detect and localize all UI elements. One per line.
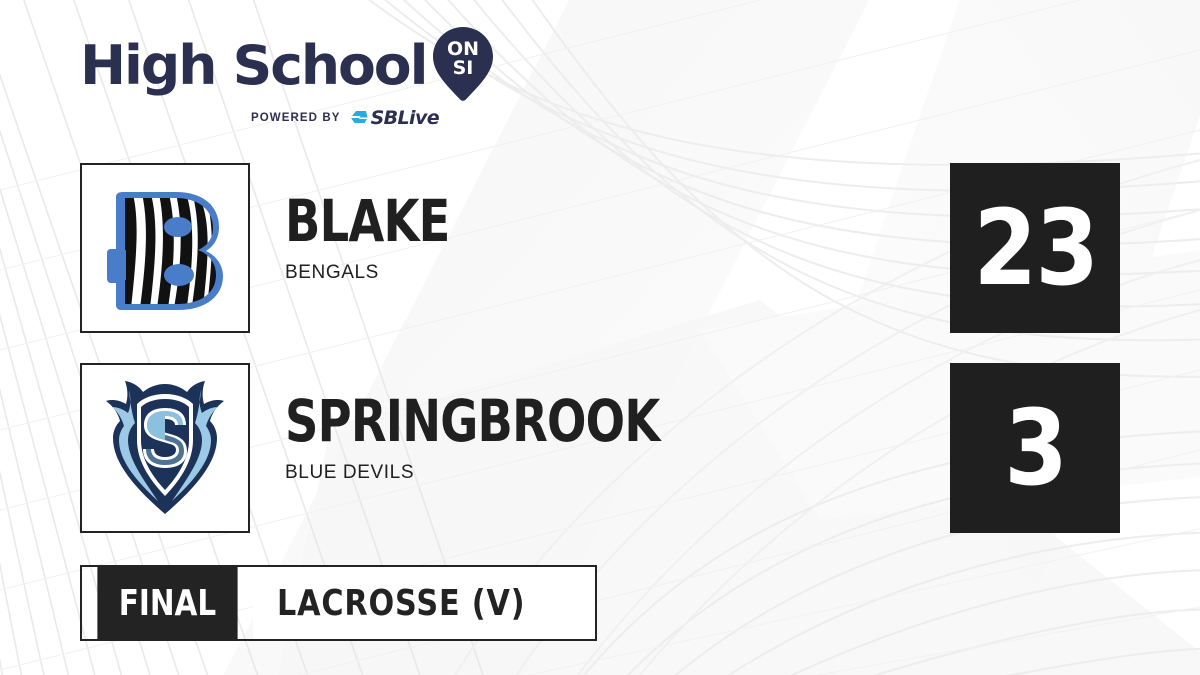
bengals-b-logo-icon — [99, 182, 231, 314]
team-name: SPRINGBROOK — [285, 393, 845, 450]
powered-by-row: POWERED BY SBLive — [195, 108, 495, 128]
sblive-bolt-icon — [349, 108, 369, 128]
blue-devils-shield-logo-icon — [99, 378, 231, 518]
team-score: 23 — [973, 196, 1097, 300]
game-status-bar: FINAL LACROSSE (V) — [80, 565, 597, 641]
team-score-box: 3 — [950, 363, 1120, 533]
team-mascot: BLUE DEVILS — [285, 462, 985, 484]
sblive-wordmark: SBLive — [371, 109, 439, 128]
team-row: BLAKE BENGALS 23 — [80, 163, 1120, 333]
team-row: SPRINGBROOK BLUE DEVILS 3 — [80, 363, 1120, 533]
team-logo-box — [80, 363, 250, 533]
team-score: 3 — [1004, 396, 1066, 500]
team-identity: BLAKE BENGALS — [285, 193, 985, 284]
team-identity: SPRINGBROOK BLUE DEVILS — [285, 393, 985, 484]
team-mascot: BENGALS — [285, 262, 985, 284]
pin-line-2-text: SI — [452, 57, 473, 79]
status-badge: FINAL — [97, 567, 237, 639]
on-si-pin-icon: ON SI — [430, 26, 496, 102]
brand-logo: High School ON SI — [80, 30, 510, 102]
sport-label: LACROSSE (V) — [253, 567, 595, 639]
brand-header: High School ON SI POWERED BY SBLive — [80, 30, 510, 135]
team-score-box: 23 — [950, 163, 1120, 333]
powered-by-label: POWERED BY — [251, 112, 341, 124]
team-name: BLAKE — [285, 193, 845, 250]
brand-wordmark: High School — [80, 39, 426, 93]
sport-label-text: LACROSSE (V) — [277, 583, 525, 624]
team-logo-box — [80, 163, 250, 333]
sblive-logo: SBLive — [349, 108, 439, 128]
